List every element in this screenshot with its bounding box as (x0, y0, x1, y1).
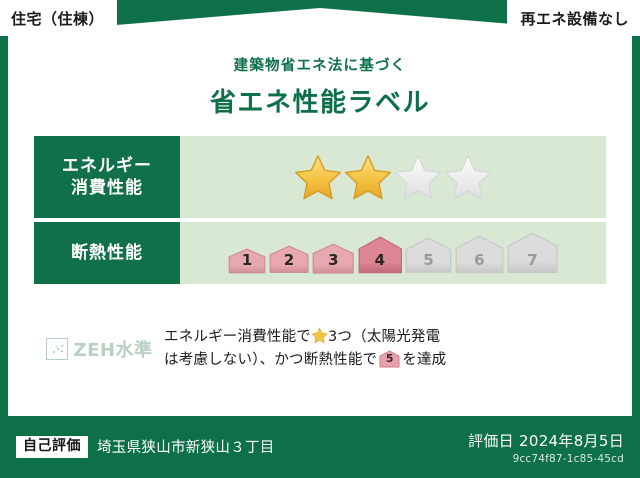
page-title: 建築物省エネ法に基づく 省エネ性能ラベル (8, 54, 632, 119)
title-main: 省エネ性能ラベル (8, 82, 632, 119)
star-empty-icon (394, 153, 442, 201)
energy-performance-value (180, 153, 606, 201)
zeh-standard-label: ZEH水準 (74, 336, 153, 362)
energy-performance-row: エネルギー 消費性能 (34, 136, 606, 218)
description-line1-before-star: エネルギー消費性能で (164, 329, 311, 345)
insulation-grade-scale: 1234567 (228, 232, 558, 274)
description-line1-after-star: 3つ（太陽光発電 (328, 329, 440, 345)
renewable-energy-tag-label: 再エネ設備なし (520, 8, 629, 29)
insulation-grade-5: 5 (405, 237, 452, 273)
insulation-grade-number: 2 (269, 251, 309, 269)
insulation-grade-4: 4 (358, 236, 403, 274)
insulation-grade-6: 6 (455, 235, 504, 274)
inline-star-icon (311, 327, 328, 344)
building-type-tag: 住宅（住棟） (0, 0, 117, 36)
insulation-grade-number: 4 (358, 251, 403, 269)
insulation-performance-row: 断熱性能 1234567 (34, 222, 606, 284)
star-filled-icon (344, 153, 392, 201)
zeh-sparkle-icon (46, 338, 68, 360)
energy-performance-label: 住宅（住棟） 再エネ設備なし 建築物省エネ法に基づく 省エネ性能ラベル エネルギ… (0, 0, 640, 478)
self-evaluation-badge: 自己評価 (16, 436, 88, 457)
achievement-description: エネルギー消費性能で3つ（太陽光発電 は考慮しない）、かつ断熱性能で5を達成 (164, 326, 606, 373)
zeh-standard-mark: ZEH水準 (34, 336, 164, 362)
footer-left-group: 自己評価 埼玉県狭山市新狭山３丁目 (0, 436, 275, 457)
insulation-grade-number: 5 (405, 251, 452, 269)
insulation-performance-label-line1: 断熱性能 (71, 242, 143, 264)
star-rating (294, 153, 492, 201)
label-id-code: 9cc74f87-1c85-45cd (468, 453, 624, 465)
insulation-grade-3: 3 (312, 243, 354, 274)
label-footer: 自己評価 埼玉県狭山市新狭山３丁目 評価日 2024年8月5日 9cc74f87… (0, 416, 640, 478)
title-subtitle: 建築物省エネ法に基づく (8, 54, 632, 75)
insulation-grade-number: 7 (507, 251, 558, 269)
insulation-grade-7: 7 (507, 232, 558, 274)
evaluation-date: 評価日 2024年8月5日 (468, 430, 624, 451)
property-address: 埼玉県狭山市新狭山３丁目 (97, 436, 275, 457)
insulation-grade-number: 1 (228, 251, 266, 269)
star-filled-icon (294, 153, 342, 201)
insulation-grade-1: 1 (228, 248, 266, 274)
insulation-grade-number: 6 (455, 251, 504, 269)
renewable-energy-tag: 再エネ設備なし (507, 0, 640, 36)
footer-right-group: 評価日 2024年8月5日 9cc74f87-1c85-45cd (468, 430, 640, 465)
description-line2-after-badge: を達成 (402, 352, 446, 368)
inline-grade-badge: 5 (379, 350, 400, 368)
performance-panel: エネルギー 消費性能 断熱性能 1234567 (34, 136, 606, 284)
label-content: 建築物省エネ法に基づく 省エネ性能ラベル エネルギー 消費性能 断熱性能 (8, 8, 632, 416)
energy-performance-label-line1: エネルギー (62, 155, 152, 177)
insulation-performance-label: 断熱性能 (34, 222, 180, 284)
building-type-tag-label: 住宅（住棟） (11, 8, 104, 29)
description-line2-before-badge: は考慮しない）、かつ断熱性能で (164, 352, 377, 368)
energy-performance-label-line2: 消費性能 (71, 177, 143, 199)
insulation-grade-number: 3 (312, 251, 354, 269)
insulation-grade-2: 2 (269, 245, 309, 274)
insulation-performance-value: 1234567 (180, 232, 606, 274)
inline-grade-badge-number: 5 (379, 350, 400, 368)
energy-performance-label: エネルギー 消費性能 (34, 136, 180, 218)
zeh-description-row: ZEH水準 エネルギー消費性能で3つ（太陽光発電 は考慮しない）、かつ断熱性能で… (34, 326, 606, 373)
star-empty-icon (444, 153, 492, 201)
